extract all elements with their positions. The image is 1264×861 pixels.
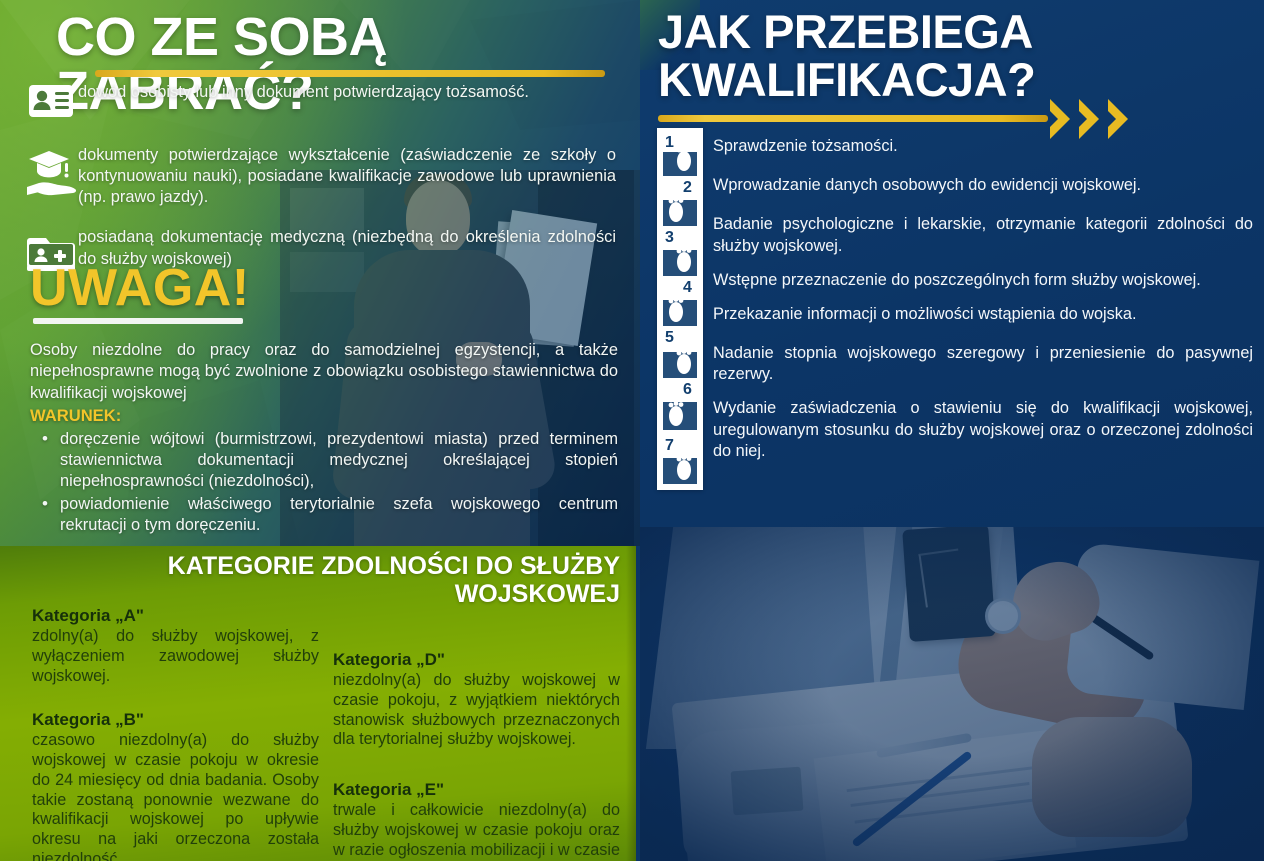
list-item: doręczenie wójtowi (burmistrzowi, prezyd… xyxy=(30,429,618,493)
gold-divider-left xyxy=(95,70,605,77)
list-item: Sprawdzenie tożsamości. xyxy=(713,136,1253,157)
svg-text:7: 7 xyxy=(665,437,674,454)
svg-text:4: 4 xyxy=(683,279,692,296)
category-text: trwale i całkowicie niezdolny(a) do służ… xyxy=(333,801,620,861)
category-text: zdolny(a) do służby wojskowej, z wyłącze… xyxy=(32,627,319,686)
svg-text:2: 2 xyxy=(683,179,692,196)
footprints-with-numbers-icon: 1 2 3 4 5 6 7 xyxy=(657,128,703,490)
category-heading: Kategoria „E" xyxy=(333,780,620,800)
photo-blood-pressure-measurement xyxy=(640,527,1264,861)
list-item: Wstępne przeznaczenie do poszczególnych … xyxy=(713,270,1253,291)
categories-column-right: Kategoria „D" niezdolny(a) do służby woj… xyxy=(333,650,620,861)
category-text: czasowo niezdolny(a) do służby wojskowej… xyxy=(32,731,319,861)
infographic-poster: CO ZE SOBĄ ZABRAĆ? dowód osobisty lub in… xyxy=(0,0,1264,861)
svg-text:5: 5 xyxy=(665,329,674,346)
id-card-icon xyxy=(24,82,78,128)
section-what-to-bring: CO ZE SOBĄ ZABRAĆ? dowód osobisty lub in… xyxy=(0,0,640,546)
category-text: niezdolny(a) do służby wojskowej w czasi… xyxy=(333,671,620,750)
footprint-strip: 1 2 3 4 5 6 7 xyxy=(657,128,703,490)
category-heading: Kategoria „B" xyxy=(32,710,319,730)
svg-text:6: 6 xyxy=(683,381,692,398)
categories-column-left: Kategoria „A" zdolny(a) do służby wojsko… xyxy=(32,606,319,861)
list-item: powiadomienie właściwego terytorialnie s… xyxy=(30,494,618,537)
list-item: Badanie psychologiczne i lekarskie, otrz… xyxy=(713,214,1253,256)
category-heading: Kategoria „D" xyxy=(333,650,620,670)
list-item: Nadanie stopnia wojskowego szeregowy i p… xyxy=(713,343,1253,385)
notice-paragraph: Osoby niezdolne do pracy oraz do samodzi… xyxy=(30,341,618,402)
page-title-qualification: JAK PRZEBIEGA KWALIFIKACJA? xyxy=(658,8,1218,104)
list-item: dokumenty potwierdzające wykształcenie (… xyxy=(24,145,624,208)
category-b: Kategoria „B" czasowo niezdolny(a) do sł… xyxy=(32,710,319,861)
list-item: dowód osobisty lub inny dokument potwier… xyxy=(24,82,624,128)
graduation-cap-hand-icon xyxy=(24,145,78,207)
section-fitness-categories: KATEGORIE ZDOLNOŚCI DO SŁUŻBY WOJSKOWEJ … xyxy=(0,546,636,861)
steps-list: Sprawdzenie tożsamości. Wprowadzanie dan… xyxy=(713,136,1253,462)
gold-divider-right xyxy=(658,115,1048,122)
white-divider xyxy=(33,318,243,324)
notice-heading: UWAGA! xyxy=(30,258,250,318)
triple-chevron-right-icon xyxy=(1048,97,1132,141)
notice-body-block: Osoby niezdolne do pracy oraz do samodzi… xyxy=(30,340,618,537)
condition-label: WARUNEK: xyxy=(30,405,618,427)
condition-list: doręczenie wójtowi (burmistrzowi, prezyd… xyxy=(30,429,618,537)
list-item-label: dokumenty potwierdzające wykształcenie (… xyxy=(78,145,624,208)
category-a: Kategoria „A" zdolny(a) do służby wojsko… xyxy=(32,606,319,686)
category-heading: Kategoria „A" xyxy=(32,606,319,626)
categories-title: KATEGORIE ZDOLNOŚCI DO SŁUŻBY WOJSKOWEJ xyxy=(150,552,620,608)
svg-text:3: 3 xyxy=(665,229,674,246)
list-item: Przekazanie informacji o możliwości wstą… xyxy=(713,304,1253,325)
svg-text:1: 1 xyxy=(665,134,674,151)
list-item: Wprowadzanie danych osobowych do ewidenc… xyxy=(713,175,1253,196)
list-item: Wydanie zaświadczenia o stawieniu się do… xyxy=(713,398,1253,462)
list-item-label: dowód osobisty lub inny dokument potwier… xyxy=(78,82,537,103)
category-e: Kategoria „E" trwale i całkowicie niezdo… xyxy=(333,780,620,861)
category-d: Kategoria „D" niezdolny(a) do służby woj… xyxy=(333,650,620,750)
